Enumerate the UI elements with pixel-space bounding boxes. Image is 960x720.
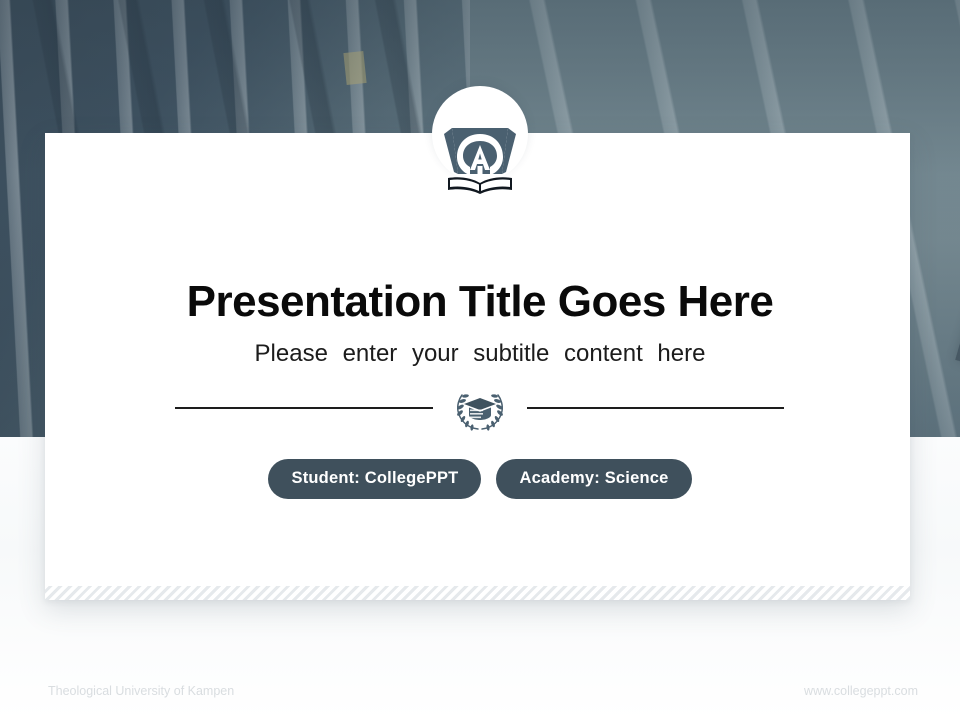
badge-row: Student: CollegePPT Academy: Science	[0, 459, 960, 499]
footer-organization: Theological University of Kampen	[48, 684, 234, 698]
page-subtitle: Please enter your subtitle content here	[0, 340, 960, 368]
footer-website[interactable]: www.collegeppt.com	[804, 684, 918, 698]
badge-academy[interactable]: Academy: Science	[496, 459, 691, 499]
divider-rule-right	[527, 407, 784, 409]
laurel-graduation-cap-icon	[452, 388, 508, 432]
presentation-slide: Presentation Title Goes Here Please ente…	[0, 0, 960, 720]
hatched-accent-strip	[45, 586, 910, 600]
university-crest-logo	[432, 112, 528, 202]
divider-rule-left	[175, 407, 433, 409]
page-title: Presentation Title Goes Here	[0, 277, 960, 327]
badge-student[interactable]: Student: CollegePPT	[268, 459, 481, 499]
